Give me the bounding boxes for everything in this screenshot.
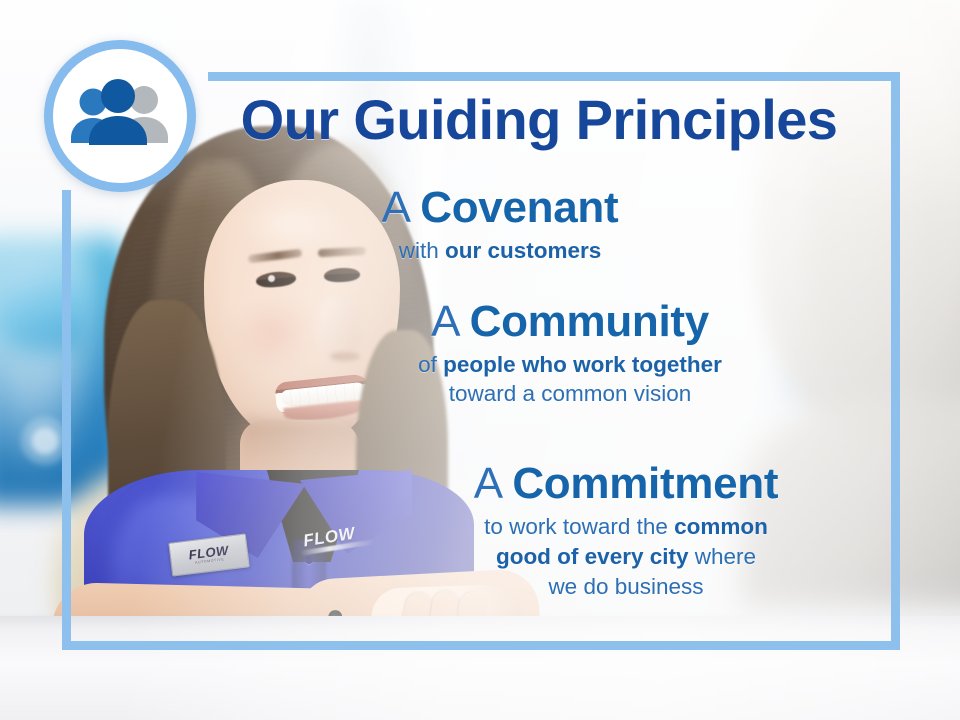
principle-commitment-heading: A Commitment bbox=[352, 462, 900, 507]
principle-commitment-subtitle: to work toward the common good of every … bbox=[352, 512, 900, 602]
principle-covenant-keyword: Covenant bbox=[420, 183, 618, 232]
principle-community-subtitle-part-1: of bbox=[418, 352, 443, 377]
principle-commitment-subtitle-part-4: where bbox=[689, 544, 757, 569]
principle-commitment-subtitle-part-2: common bbox=[674, 514, 768, 539]
principle-community: A Community of people who work together … bbox=[300, 300, 840, 408]
principle-commitment-article: A bbox=[474, 459, 501, 508]
principle-commitment-keyword: Commitment bbox=[512, 459, 778, 508]
principle-commitment-subtitle-part-5: we do business bbox=[548, 574, 703, 599]
principle-covenant: A Covenant with our customers bbox=[250, 186, 750, 265]
principle-covenant-subtitle-part-1: with bbox=[399, 238, 445, 263]
principle-community-keyword: Community bbox=[470, 297, 709, 346]
guiding-principles-banner: FLOW AUTOMOTIVE FLOW bbox=[0, 0, 960, 720]
principle-covenant-heading: A Covenant bbox=[250, 186, 750, 231]
principle-community-subtitle: of people who work together toward a com… bbox=[300, 350, 840, 409]
principle-community-heading: A Community bbox=[300, 300, 840, 345]
principle-community-subtitle-part-2: people who work together bbox=[443, 352, 722, 377]
principle-community-subtitle-part-3: toward a common vision bbox=[449, 381, 692, 406]
page-title: Our Guiding Principles bbox=[0, 92, 960, 148]
principle-covenant-article: A bbox=[382, 183, 409, 232]
principle-commitment: A Commitment to work toward the common g… bbox=[352, 462, 900, 602]
principle-covenant-subtitle-part-2: our customers bbox=[445, 238, 601, 263]
principle-covenant-subtitle: with our customers bbox=[250, 236, 750, 265]
principle-commitment-subtitle-part-3: good of every city bbox=[496, 544, 689, 569]
principle-community-article: A bbox=[431, 297, 458, 346]
principle-commitment-subtitle-part-1: to work toward the bbox=[484, 514, 674, 539]
